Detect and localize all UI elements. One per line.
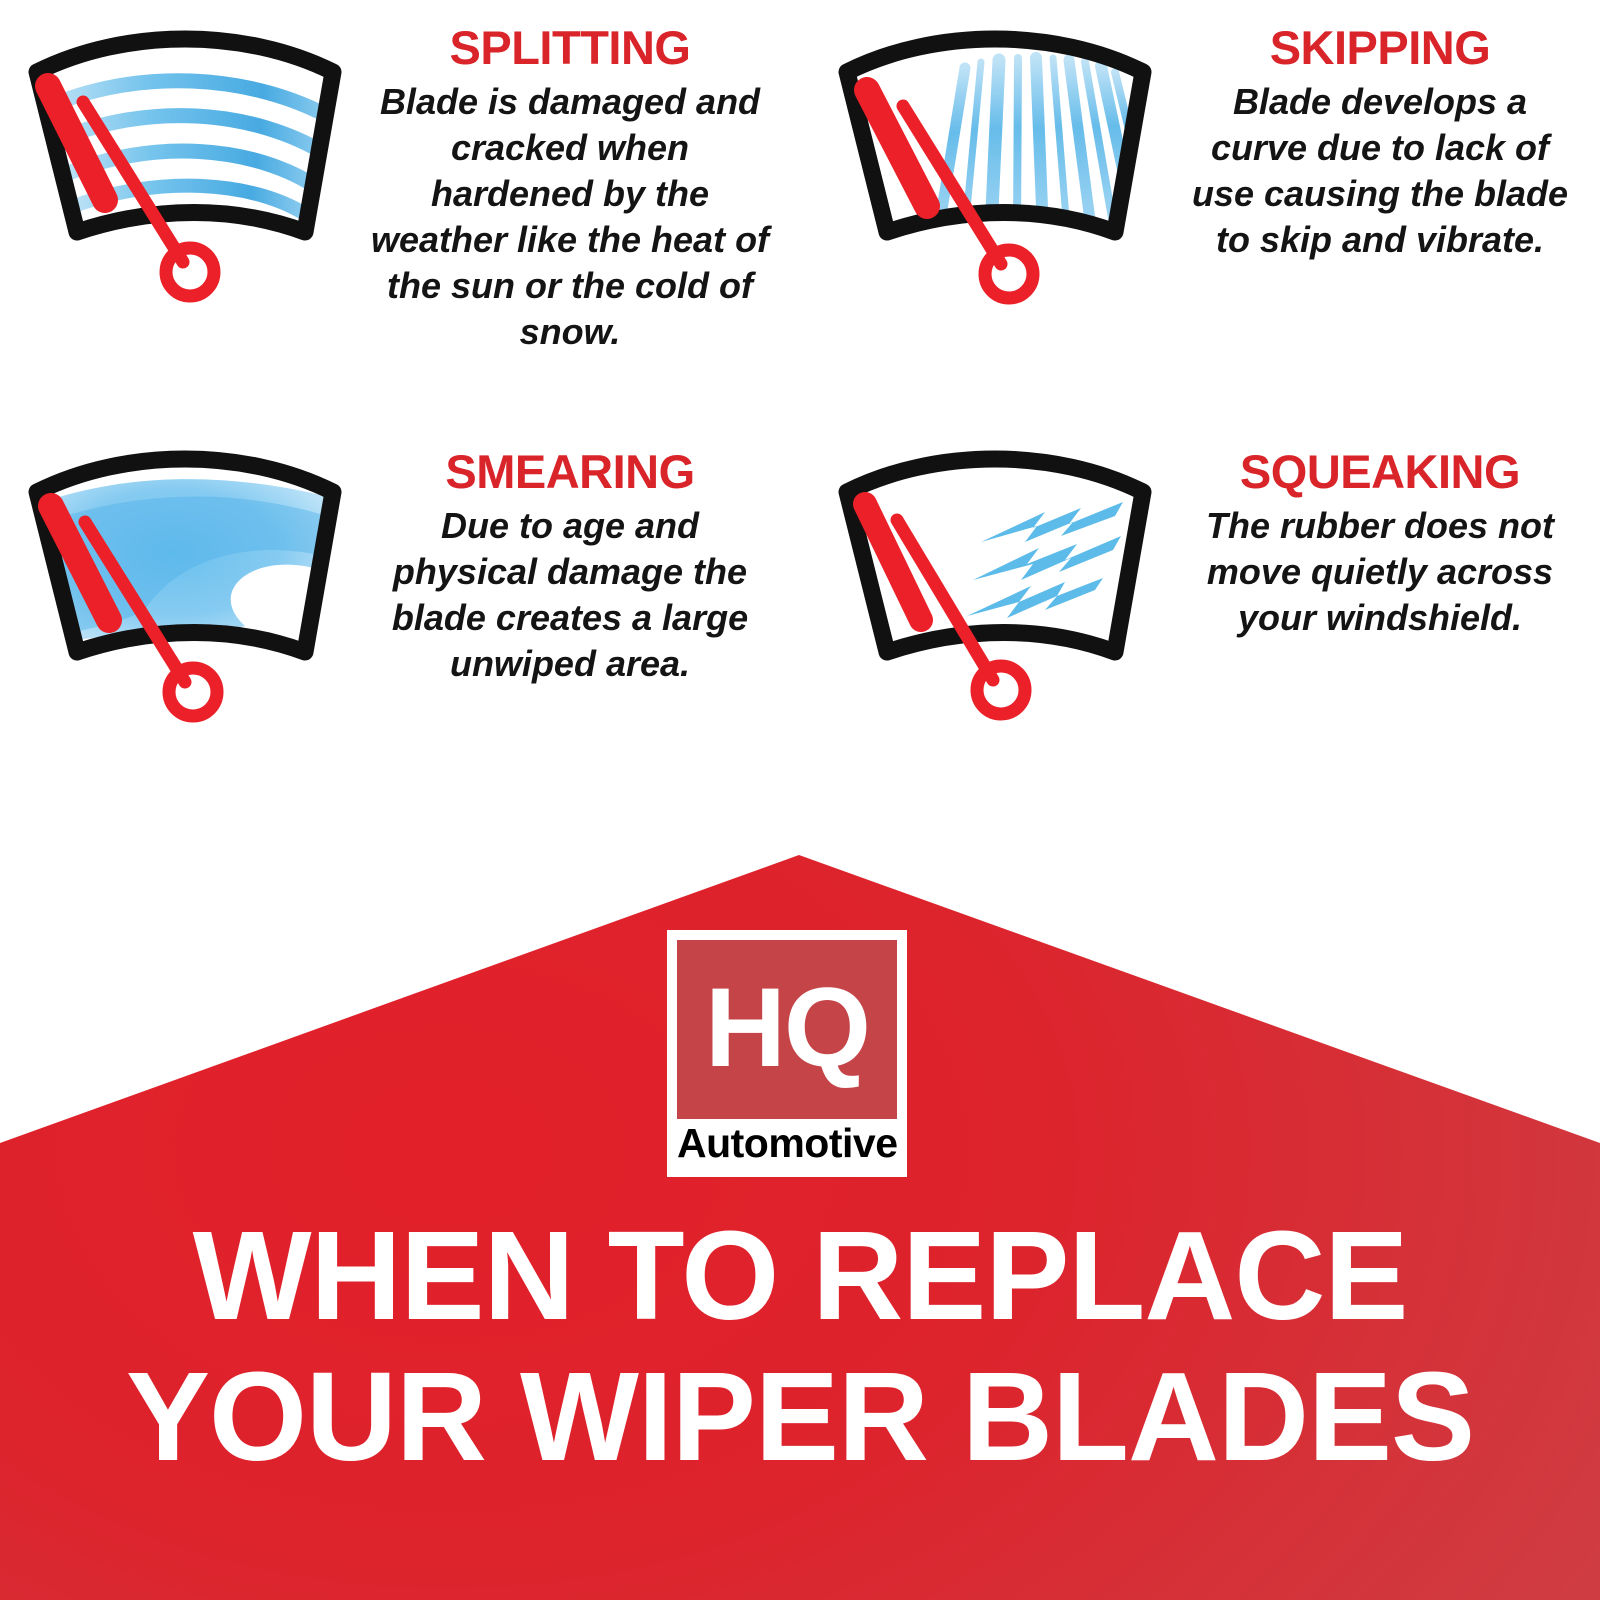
symptom-card-splitting: SPLITTING Blade is damaged and cracked w… <box>0 0 790 430</box>
text-wrap-skipping: SKIPPING Blade develops a curve due to l… <box>1180 0 1600 263</box>
logo-mark-panel: HQ <box>677 940 897 1119</box>
symptom-card-squeaking: SQUEAKING The rubber does not move quiet… <box>810 430 1600 860</box>
logo-wordmark: Automotive <box>677 1119 897 1167</box>
windshield-wiper-arcs-icon <box>5 10 365 310</box>
hq-automotive-logo: HQ Automotive <box>667 930 907 1177</box>
headline-line-1: WHEN TO REPLACE <box>0 1205 1600 1346</box>
symptom-card-smearing: SMEARING Due to age and physical damage … <box>0 430 790 860</box>
icon-wrap-smearing <box>0 430 370 730</box>
glass-squeak-bolts <box>967 502 1123 618</box>
symptom-title-skipping: SKIPPING <box>1180 24 1580 71</box>
symptom-description-splitting: Blade is damaged and cracked when harden… <box>370 79 770 355</box>
symptom-grid: SPLITTING Blade is damaged and cracked w… <box>0 0 1600 860</box>
wiper-pivot <box>977 666 1025 714</box>
headline-line-2: YOUR WIPER BLADES <box>0 1346 1600 1487</box>
symptom-title-squeaking: SQUEAKING <box>1180 448 1580 495</box>
symptom-title-smearing: SMEARING <box>370 448 770 495</box>
text-wrap-smearing: SMEARING Due to age and physical damage … <box>370 430 790 687</box>
text-wrap-squeaking: SQUEAKING The rubber does not move quiet… <box>1180 430 1600 641</box>
icon-wrap-splitting <box>0 0 370 310</box>
windshield-wiper-streaks-icon <box>815 10 1175 310</box>
icon-wrap-squeaking <box>810 430 1180 730</box>
symptom-description-smearing: Due to age and physical damage the blade… <box>370 503 770 687</box>
wiper-pivot <box>169 668 217 716</box>
wiper-pivot <box>166 248 214 296</box>
symptom-description-skipping: Blade develops a curve due to lack of us… <box>1180 79 1580 263</box>
symptom-description-squeaking: The rubber does not move quietly across … <box>1180 503 1580 641</box>
icon-wrap-skipping <box>810 0 1180 310</box>
windshield-wiper-zigzag-icon <box>815 430 1175 730</box>
wiper-pivot <box>985 250 1033 298</box>
windshield-wiper-smear-icon <box>5 430 365 730</box>
symptom-card-skipping: SKIPPING Blade develops a curve due to l… <box>810 0 1600 430</box>
symptom-title-splitting: SPLITTING <box>370 24 770 71</box>
page-title: WHEN TO REPLACE YOUR WIPER BLADES <box>0 1205 1600 1487</box>
text-wrap-splitting: SPLITTING Blade is damaged and cracked w… <box>370 0 790 355</box>
logo-mark-text: HQ <box>705 972 869 1084</box>
